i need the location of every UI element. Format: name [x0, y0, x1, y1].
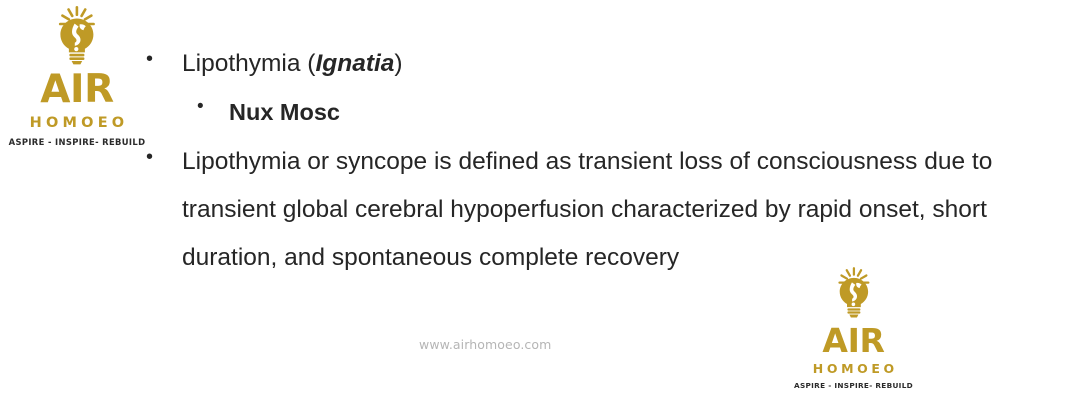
- list-item-text: Lipothymia (Ignatia): [182, 40, 1026, 88]
- logo-subword: HOMOEO: [26, 116, 129, 131]
- logo-wordmark: AIR: [40, 70, 114, 109]
- brand-logo-top-left: AIR HOMOEO ASPIRE - INSPIRE- REBUILD: [12, 6, 142, 146]
- list-item-text: Nux Mosc: [229, 88, 1026, 136]
- bullet-marker-icon: •: [146, 138, 182, 167]
- slide-canvas: AIR HOMOEO ASPIRE - INSPIRE- REBUILD • L…: [0, 0, 1074, 412]
- site-watermark: www.airhomoeo.com: [419, 337, 551, 352]
- logo-subword: HOMOEO: [809, 363, 897, 376]
- bullet-marker-icon: •: [146, 40, 182, 69]
- list-item: • Nux Mosc: [146, 88, 1026, 136]
- list-item: • Lipothymia (Ignatia): [146, 40, 1026, 88]
- brand-logo-bottom-right: AIR HOMOEO ASPIRE - INSPIRE- REBUILD: [797, 267, 910, 389]
- list-item: • Lipothymia or syncope is defined as tr…: [146, 138, 1026, 282]
- lightbulb-question-mark-icon: [41, 6, 113, 71]
- lightbulb-question-mark-icon: [823, 267, 885, 324]
- logo-tagline: ASPIRE - INSPIRE- REBUILD: [794, 382, 913, 389]
- remedy-name-emphasis: Ignatia: [315, 50, 394, 77]
- logo-tagline: ASPIRE - INSPIRE- REBUILD: [9, 138, 146, 146]
- list-item-text-before: Lipothymia (: [182, 50, 315, 77]
- list-item-text: Lipothymia or syncope is defined as tran…: [182, 138, 1026, 282]
- list-item-text-after: ): [394, 50, 402, 77]
- slide-content: • Lipothymia (Ignatia) • Nux Mosc • Lipo…: [146, 40, 1026, 282]
- logo-wordmark: AIR: [822, 324, 884, 357]
- bullet-marker-icon: •: [197, 88, 229, 116]
